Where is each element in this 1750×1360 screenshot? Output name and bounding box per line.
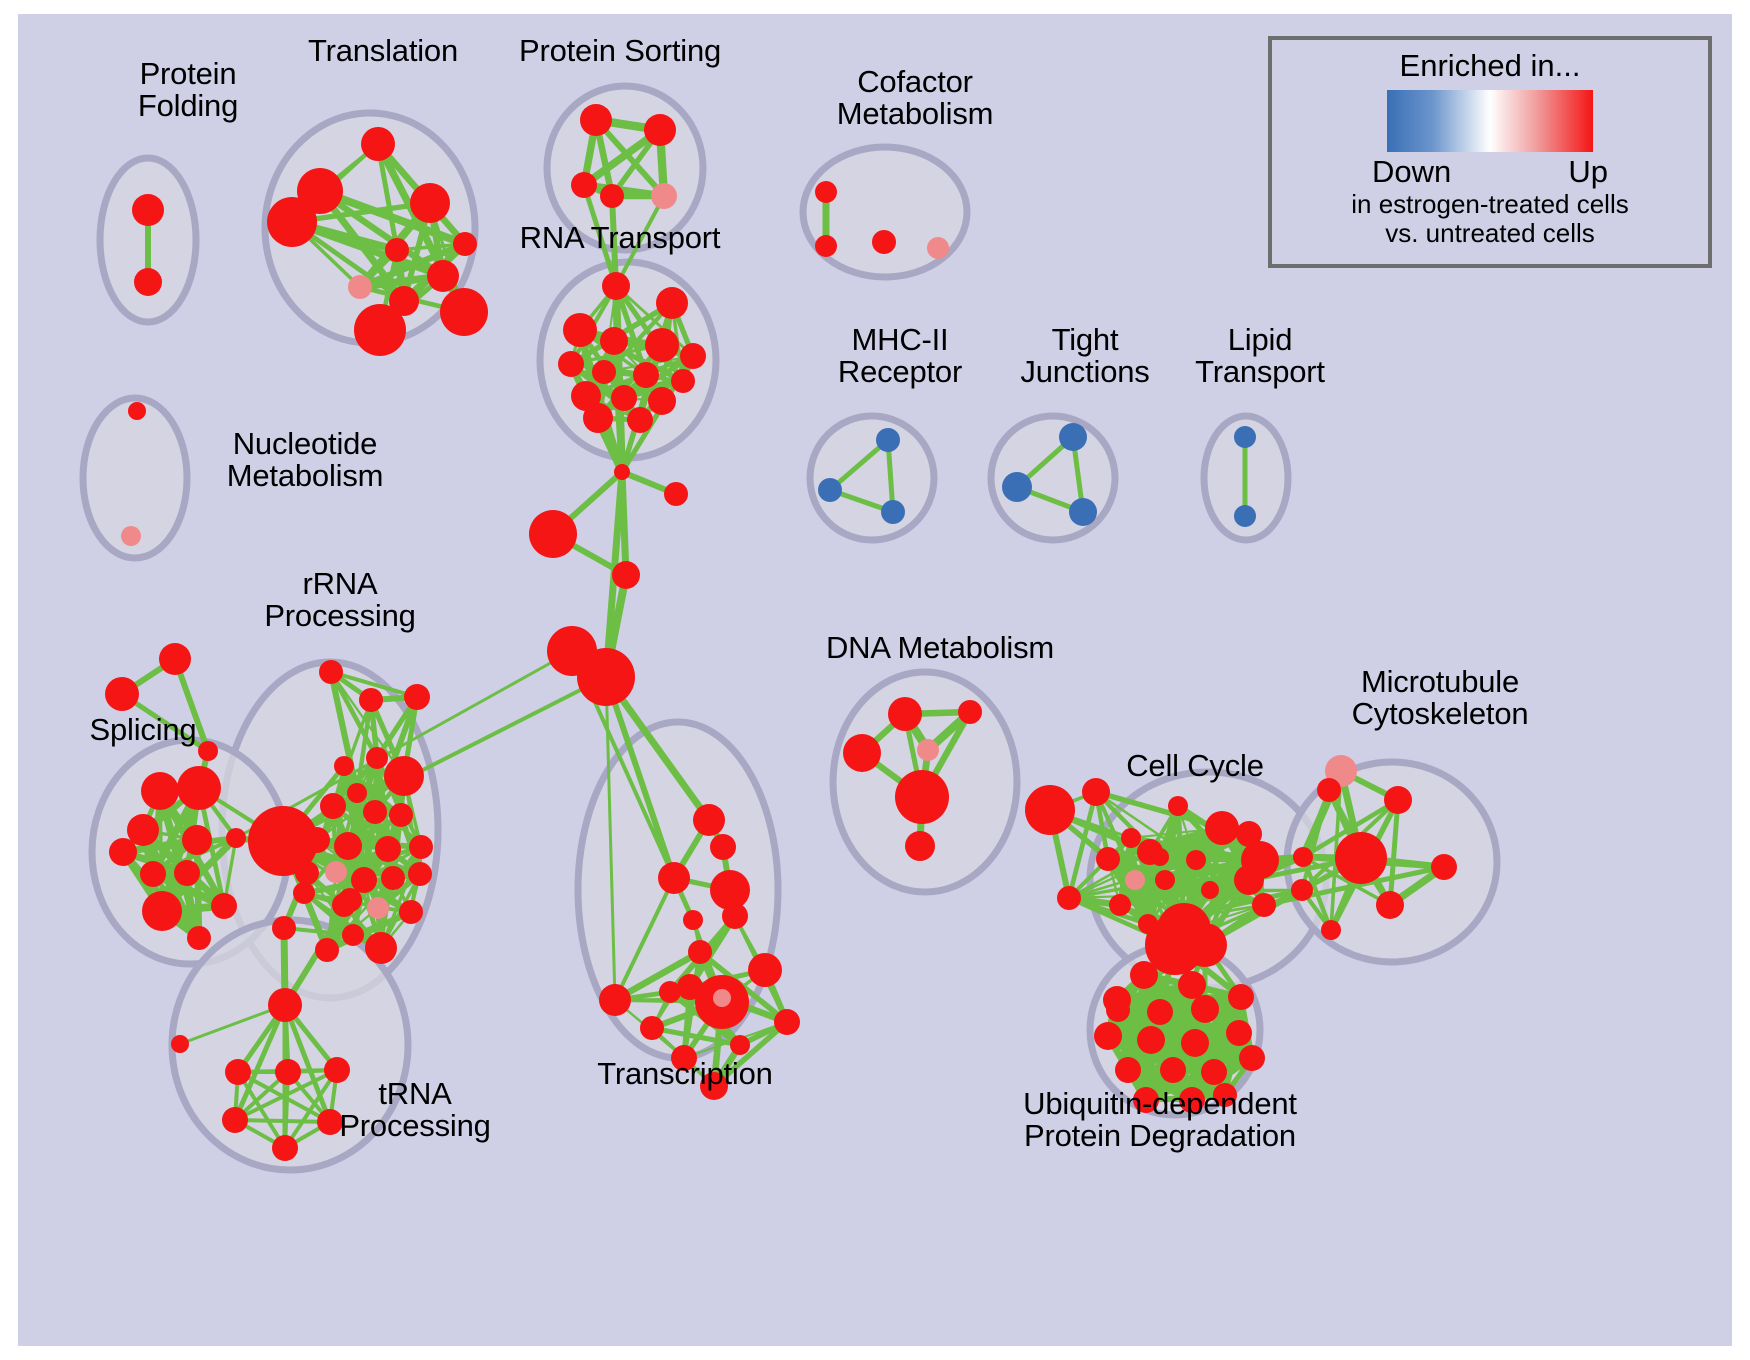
network-node[interactable] — [611, 385, 637, 411]
network-node[interactable] — [320, 793, 346, 819]
network-node[interactable] — [275, 1059, 301, 1085]
network-node[interactable] — [272, 916, 296, 940]
network-node[interactable] — [134, 268, 162, 296]
network-node[interactable] — [529, 510, 577, 558]
network-node[interactable] — [338, 888, 362, 912]
network-node[interactable] — [295, 861, 319, 885]
network-node[interactable] — [293, 882, 315, 904]
network-node[interactable] — [1186, 850, 1206, 870]
network-node[interactable] — [1178, 971, 1206, 999]
network-node[interactable] — [645, 328, 679, 362]
network-node[interactable] — [1234, 865, 1264, 895]
legend-endpoints: Down Up — [1372, 154, 1608, 190]
network-node[interactable] — [710, 834, 736, 860]
network-node[interactable] — [410, 183, 450, 223]
network-node[interactable] — [1376, 891, 1404, 919]
network-node[interactable] — [583, 403, 613, 433]
network-node[interactable] — [1160, 1057, 1186, 1083]
network-node[interactable] — [121, 526, 141, 546]
network-node[interactable] — [580, 104, 612, 136]
network-node[interactable] — [399, 900, 423, 924]
network-node[interactable] — [927, 237, 949, 259]
network-node[interactable] — [659, 981, 681, 1003]
network-node[interactable] — [818, 478, 842, 502]
network-node[interactable] — [876, 428, 900, 452]
network-node[interactable] — [354, 304, 406, 356]
network-node[interactable] — [1293, 847, 1313, 867]
network-node[interactable] — [1226, 1020, 1252, 1046]
network-node[interactable] — [226, 828, 246, 848]
cluster-label-cofactor-metabolism: Cofactor Metabolism — [790, 66, 1040, 130]
network-node[interactable] — [600, 327, 628, 355]
network-node[interactable] — [1205, 811, 1239, 845]
network-node[interactable] — [658, 862, 690, 894]
network-node[interactable] — [187, 926, 211, 950]
network-node[interactable] — [633, 362, 659, 388]
network-node[interactable] — [1057, 886, 1081, 910]
network-node[interactable] — [404, 684, 430, 710]
cluster-label-protein-folding: Protein Folding — [83, 58, 293, 122]
network-node[interactable] — [688, 940, 712, 964]
network-node[interactable] — [427, 260, 459, 292]
network-node[interactable] — [409, 835, 433, 859]
network-node[interactable] — [334, 756, 354, 776]
network-node[interactable] — [440, 288, 488, 336]
network-node[interactable] — [174, 860, 200, 886]
network-node[interactable] — [612, 561, 640, 589]
network-node[interactable] — [1181, 1029, 1209, 1057]
network-node[interactable] — [1002, 472, 1032, 502]
network-node[interactable] — [693, 804, 725, 836]
network-node[interactable] — [408, 862, 432, 886]
network-node[interactable] — [211, 893, 237, 919]
network-node[interactable] — [177, 766, 221, 810]
network-node[interactable] — [361, 127, 395, 161]
network-node[interactable] — [671, 369, 695, 393]
network-node[interactable] — [713, 989, 731, 1007]
network-node[interactable] — [1431, 854, 1457, 880]
cluster-label-mhc-ii-receptor: MHC-II Receptor — [795, 324, 1005, 388]
network-node[interactable] — [627, 407, 653, 433]
network-node[interactable] — [895, 770, 949, 824]
legend-down-label: Down — [1372, 154, 1451, 190]
legend-subtitle-2: vs. untreated cells — [1385, 219, 1595, 248]
network-node[interactable] — [917, 739, 939, 761]
network-node[interactable] — [267, 197, 317, 247]
legend-subtitle-1: in estrogen-treated cells — [1351, 190, 1628, 219]
network-node[interactable] — [132, 194, 164, 226]
network-node[interactable] — [367, 897, 389, 919]
legend-title: Enriched in... — [1400, 48, 1581, 84]
network-node[interactable] — [656, 287, 688, 319]
network-node[interactable] — [640, 1016, 664, 1040]
network-node[interactable] — [1147, 999, 1173, 1025]
network-node[interactable] — [1106, 998, 1130, 1022]
network-node[interactable] — [600, 184, 624, 208]
cluster-label-protein-sorting: Protein Sorting — [490, 35, 750, 67]
network-node[interactable] — [1094, 1022, 1122, 1050]
network-node[interactable] — [319, 660, 343, 684]
network-node[interactable] — [272, 1135, 298, 1161]
network-node[interactable] — [1125, 870, 1145, 890]
network-node[interactable] — [1321, 920, 1341, 940]
network-node[interactable] — [325, 861, 347, 883]
cluster-label-lipid-transport: Lipid Transport — [1160, 324, 1360, 388]
network-node[interactable] — [171, 1035, 189, 1053]
network-node[interactable] — [347, 783, 367, 803]
network-node[interactable] — [1239, 1045, 1265, 1071]
network-node[interactable] — [1291, 879, 1313, 901]
network-node[interactable] — [268, 988, 302, 1022]
network-node[interactable] — [748, 953, 782, 987]
network-node[interactable] — [815, 181, 837, 203]
network-node[interactable] — [1121, 828, 1141, 848]
network-node[interactable] — [1228, 984, 1254, 1010]
network-node[interactable] — [872, 230, 896, 254]
network-node[interactable] — [453, 232, 477, 256]
network-node[interactable] — [315, 938, 339, 962]
network-node[interactable] — [683, 910, 703, 930]
network-node[interactable] — [182, 825, 212, 855]
network-node[interactable] — [958, 700, 982, 724]
network-node[interactable] — [385, 238, 409, 262]
network-node[interactable] — [881, 500, 905, 524]
network-figure: Protein Folding Translation Protein Sort… — [0, 0, 1750, 1360]
network-node[interactable] — [651, 183, 677, 209]
network-node[interactable] — [105, 677, 139, 711]
cluster-label-dna-metabolism: DNA Metabolism — [805, 632, 1075, 664]
network-node[interactable] — [304, 827, 330, 853]
network-node[interactable] — [592, 360, 616, 384]
network-node[interactable] — [680, 343, 706, 369]
network-node[interactable] — [644, 114, 676, 146]
network-node[interactable] — [348, 275, 372, 299]
network-node[interactable] — [1069, 498, 1097, 526]
network-node[interactable] — [722, 903, 748, 929]
network-node[interactable] — [599, 984, 631, 1016]
network-node[interactable] — [140, 861, 166, 887]
network-node[interactable] — [843, 734, 881, 772]
network-node[interactable] — [1082, 778, 1110, 806]
cluster-label-trna-processing: tRNA Processing — [310, 1078, 520, 1142]
network-node[interactable] — [1155, 870, 1175, 890]
network-node[interactable] — [384, 756, 424, 796]
legend-color-bar — [1387, 90, 1593, 152]
cluster-ellipse — [810, 416, 934, 540]
cluster-label-translation: Translation — [268, 35, 498, 67]
network-node[interactable] — [1183, 923, 1227, 967]
cluster-label-nucleotide-metabolism: Nucleotide Metabolism — [180, 428, 430, 492]
network-node[interactable] — [389, 803, 413, 827]
network-node[interactable] — [225, 1059, 251, 1085]
network-node[interactable] — [602, 272, 630, 300]
network-node[interactable] — [128, 402, 146, 420]
network-node[interactable] — [1201, 1059, 1227, 1085]
legend: Enriched in... Down Up in estrogen-treat… — [1268, 36, 1712, 268]
network-node[interactable] — [142, 891, 182, 931]
network-node[interactable] — [563, 313, 597, 347]
network-node[interactable] — [1025, 785, 1075, 835]
network-node[interactable] — [366, 747, 388, 769]
network-node[interactable] — [159, 643, 191, 675]
network-node[interactable] — [141, 772, 179, 810]
network-node[interactable] — [342, 924, 364, 946]
network-node[interactable] — [1109, 894, 1131, 916]
network-node[interactable] — [1234, 426, 1256, 448]
cluster-label-microtubule-cytoskeleton: Microtubule Cytoskeleton — [1300, 666, 1580, 730]
network-node[interactable] — [381, 866, 405, 890]
network-node[interactable] — [1115, 1057, 1141, 1083]
cluster-label-splicing: Splicing — [58, 714, 228, 746]
network-node[interactable] — [365, 932, 397, 964]
network-node[interactable] — [334, 832, 362, 860]
cluster-label-rrna-processing: rRNA Processing — [235, 568, 445, 632]
cluster-label-transcription: Transcription — [565, 1058, 805, 1090]
network-node[interactable] — [730, 1035, 750, 1055]
network-node[interactable] — [571, 172, 597, 198]
network-node[interactable] — [109, 838, 137, 866]
network-node[interactable] — [1096, 847, 1120, 871]
network-node[interactable] — [1384, 786, 1412, 814]
network-node[interactable] — [1201, 881, 1219, 899]
network-node[interactable] — [1317, 778, 1341, 802]
network-node[interactable] — [905, 831, 935, 861]
legend-up-label: Up — [1568, 154, 1608, 190]
network-node[interactable] — [888, 697, 922, 731]
network-node[interactable] — [558, 351, 584, 377]
network-node[interactable] — [648, 387, 676, 415]
cluster-label-cell-cycle: Cell Cycle — [1095, 750, 1295, 782]
network-node[interactable] — [1191, 995, 1219, 1023]
network-node[interactable] — [774, 1009, 800, 1035]
network-node[interactable] — [1059, 423, 1087, 451]
network-node[interactable] — [1335, 832, 1387, 884]
network-node[interactable] — [1252, 893, 1276, 917]
network-node[interactable] — [1137, 1026, 1165, 1054]
network-node[interactable] — [375, 836, 401, 862]
network-node[interactable] — [363, 800, 387, 824]
cluster-label-rna-transport: RNA Transport — [495, 222, 745, 254]
cluster-label-tight-junctions: Tight Junctions — [985, 324, 1185, 388]
network-node[interactable] — [1130, 961, 1158, 989]
cluster-label-ubiquitin-degradation: Ubiquitin-dependent Protein Degradation — [990, 1088, 1330, 1152]
network-node[interactable] — [614, 464, 630, 480]
network-node[interactable] — [359, 688, 383, 712]
network-node[interactable] — [1151, 848, 1169, 866]
network-node[interactable] — [815, 235, 837, 257]
network-node[interactable] — [1234, 505, 1256, 527]
network-node[interactable] — [1168, 796, 1188, 816]
network-node[interactable] — [222, 1107, 248, 1133]
network-node[interactable] — [664, 482, 688, 506]
network-node[interactable] — [577, 648, 635, 706]
